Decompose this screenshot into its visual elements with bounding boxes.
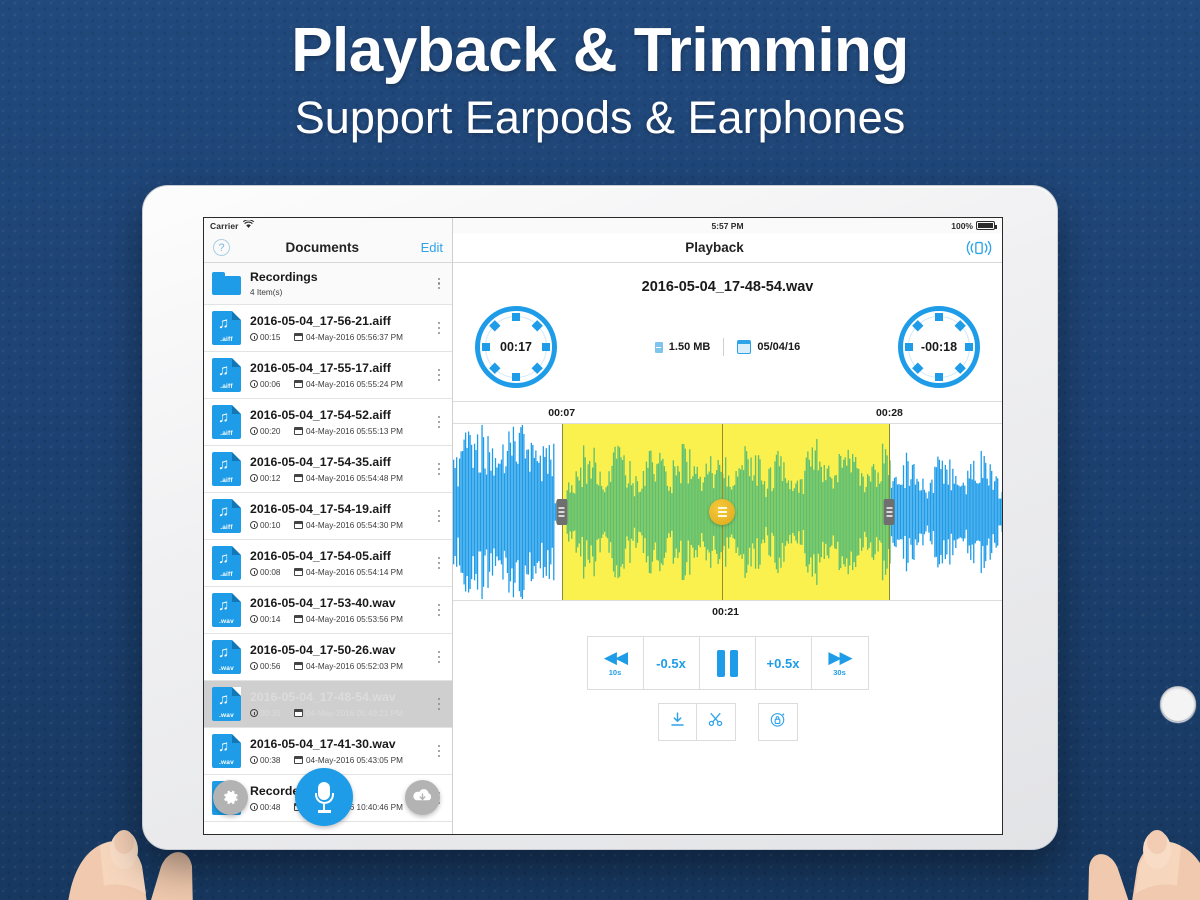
file-date: 04-May-2016 05:52:03 PM	[294, 662, 403, 671]
file-more-icon[interactable]	[432, 369, 446, 380]
file-duration: 00:06	[250, 380, 290, 389]
file-more-icon[interactable]	[432, 698, 446, 709]
sidebar-header: ? Documents Edit	[204, 233, 452, 263]
file-list[interactable]: Recordings4 Item(s)♫.aiff2016-05-04_17-5…	[204, 263, 452, 834]
right-hand	[1045, 790, 1200, 900]
dial-tick	[512, 313, 520, 321]
file-duration: 00:20	[250, 427, 290, 436]
file-date: 04-May-2016 05:54:48 PM	[294, 474, 403, 483]
dial-tick	[482, 343, 490, 351]
save-download-button[interactable]	[659, 704, 697, 740]
calendar-icon	[737, 341, 751, 354]
calendar-icon	[294, 568, 303, 576]
dial-tick	[935, 373, 943, 381]
folder-name: Recordings	[250, 270, 432, 285]
file-date-value: 05/04/16	[757, 341, 800, 353]
dial-tick	[935, 313, 943, 321]
trim-cut-button[interactable]	[697, 704, 735, 740]
selection-duration-label: 00:21	[712, 606, 739, 618]
file-duration: 00:48	[250, 803, 290, 812]
calendar-icon	[294, 521, 303, 529]
speed-up-button[interactable]: +0.5x	[756, 637, 812, 689]
file-duration: 00:12	[250, 474, 290, 483]
calendar-icon	[294, 380, 303, 388]
pause-button[interactable]	[700, 637, 756, 689]
track-title: 2016-05-04_17-48-54.wav	[453, 263, 1002, 306]
file-duration: 00:15	[250, 333, 290, 342]
file-name: 2016-05-04_17-50-26.wav	[250, 643, 432, 658]
calendar-icon	[294, 756, 303, 764]
file-date: 04-May-2016 05:56:37 PM	[294, 333, 403, 342]
file-more-icon[interactable]	[432, 416, 446, 427]
file-duration: 00:56	[250, 662, 290, 671]
protect-lock-button[interactable]	[759, 704, 797, 740]
waveform-bottom-axis: 00:21	[453, 600, 1002, 622]
settings-button[interactable]	[213, 780, 248, 815]
file-date: 04-May-2016 05:43:05 PM	[294, 756, 403, 765]
trim-handle-left[interactable]	[556, 499, 567, 525]
action-buttons	[453, 690, 1002, 741]
clock-icon	[250, 427, 258, 435]
rewind-icon: ◀◀	[604, 649, 626, 666]
main-status-bar: 5:57 PM 100%	[453, 218, 1002, 233]
calendar-icon	[294, 662, 303, 670]
waveform-top-axis: 00:07 00:28	[453, 402, 1002, 424]
file-date: 04-May-2016 05:54:14 PM	[294, 568, 403, 577]
lock-shield-icon	[768, 710, 787, 734]
trim-end-label: 00:28	[876, 407, 903, 419]
clock-icon	[250, 662, 258, 670]
page-title: Documents	[224, 240, 421, 255]
file-duration: 00:08	[250, 568, 290, 577]
audio-file-icon: ♫.wav	[212, 640, 241, 674]
rewind-seconds-label: 10s	[609, 668, 622, 677]
file-duration: 00:14	[250, 615, 290, 624]
fast-forward-icon: ▶▶	[828, 649, 850, 666]
file-duration: 00:10	[250, 521, 290, 530]
audio-file-icon: ♫.aiff	[212, 311, 241, 345]
audio-file-icon: ♫.aiff	[212, 358, 241, 392]
app-screen: Carrier ? Documents Edit Recordings4 Ite…	[203, 217, 1003, 835]
time-dials: 00:17 1.50 MB 05/04/16 -00:18	[453, 306, 1002, 402]
edit-button[interactable]: Edit	[421, 240, 443, 255]
remaining-time-dial[interactable]: -00:18	[898, 306, 980, 388]
file-name: 2016-05-04_17-56-21.aiff	[250, 314, 432, 329]
audio-file-icon: ♫.aiff	[212, 452, 241, 486]
clock-icon	[250, 568, 258, 576]
file-more-icon[interactable]	[432, 557, 446, 568]
elapsed-time-dial[interactable]: 00:17	[475, 306, 557, 388]
cloud-download-button[interactable]	[405, 780, 440, 815]
carrier-label: Carrier	[210, 221, 239, 231]
folder-icon	[212, 272, 241, 295]
file-more-icon[interactable]	[432, 322, 446, 333]
speed-up-label: +0.5x	[767, 656, 800, 671]
clock-icon	[250, 615, 258, 623]
calendar-icon	[294, 709, 303, 717]
file-more-icon[interactable]	[432, 510, 446, 521]
scissors-icon	[707, 711, 724, 733]
documents-sidebar: Carrier ? Documents Edit Recordings4 Ite…	[204, 218, 453, 834]
file-duration: 00:35	[250, 709, 290, 718]
file-info: 1.50 MB 05/04/16	[655, 338, 800, 356]
file-row[interactable]: ♫.aiff2016-05-04_17-54-35.aiff00:1204-Ma…	[204, 446, 452, 493]
home-button[interactable]	[1160, 686, 1196, 722]
audio-file-icon: ♫.aiff	[212, 546, 241, 580]
file-row[interactable]: ♫.aiff2016-05-04_17-55-17.aiff00:0604-Ma…	[204, 352, 452, 399]
calendar-icon	[294, 615, 303, 623]
speed-down-button[interactable]: -0.5x	[644, 637, 700, 689]
elapsed-time-value: 00:17	[500, 340, 532, 354]
file-name: 2016-05-04_17-54-05.aiff	[250, 549, 432, 564]
audio-file-icon: ♫.wav	[212, 687, 241, 721]
file-duration: 00:38	[250, 756, 290, 765]
pause-icon	[717, 650, 738, 677]
forward-30s-button[interactable]: ▶▶ 30s	[812, 637, 868, 689]
file-more-icon[interactable]	[432, 604, 446, 615]
trim-start-label: 00:07	[548, 407, 575, 419]
battery-indicator: 100%	[951, 221, 995, 231]
file-name: 2016-05-04_17-54-19.aiff	[250, 502, 432, 517]
file-name: 2016-05-04_17-54-35.aiff	[250, 455, 432, 470]
battery-icon	[976, 221, 995, 230]
sidebar-status-bar: Carrier	[204, 218, 452, 233]
audio-file-icon: ♫.wav	[212, 593, 241, 627]
clock-icon	[250, 803, 258, 811]
waveform-display[interactable]	[453, 424, 1002, 600]
promo-headline: Playback & Trimming	[0, 18, 1200, 83]
audio-file-icon: ♫.aiff	[212, 405, 241, 439]
cloud-download-icon	[412, 786, 433, 809]
file-size-item: 1.50 MB	[655, 341, 711, 353]
forward-seconds-label: 30s	[833, 668, 846, 677]
calendar-icon	[294, 474, 303, 482]
file-name: 2016-05-04_17-41-30.wav	[250, 737, 432, 752]
calendar-icon	[294, 427, 303, 435]
trim-handle-right[interactable]	[884, 499, 895, 525]
dial-tick	[542, 343, 550, 351]
file-row[interactable]: ♫.aiff2016-05-04_17-54-05.aiff00:0804-Ma…	[204, 540, 452, 587]
clock-icon	[250, 521, 258, 529]
file-date: 04-May-2016 05:49:21 PM	[294, 709, 403, 718]
folder-row[interactable]: Recordings4 Item(s)	[204, 263, 452, 305]
download-icon	[669, 711, 686, 733]
file-name: 2016-05-04_17-54-52.aiff	[250, 408, 432, 423]
playhead-knob[interactable]	[709, 499, 735, 525]
file-more-icon[interactable]	[432, 745, 446, 756]
transport-controls: ◀◀ 10s -0.5x +0.5x ▶▶ 30s	[453, 622, 1002, 690]
folder-count: 4 Item(s)	[250, 288, 282, 297]
file-row[interactable]: ♫.aiff2016-05-04_17-54-52.aiff00:2004-Ma…	[204, 399, 452, 446]
record-button[interactable]	[295, 768, 353, 826]
dial-tick	[905, 343, 913, 351]
file-date: 04-May-2016 05:55:13 PM	[294, 427, 403, 436]
calendar-icon	[294, 333, 303, 341]
file-date-item: 05/04/16	[737, 341, 800, 354]
file-row[interactable]: ♫.wav2016-05-04_17-53-40.wav00:1404-May-…	[204, 587, 452, 634]
file-row[interactable]: ♫.wav2016-05-04_17-50-26.wav00:5604-May-…	[204, 634, 452, 681]
wifi-icon	[243, 220, 254, 231]
audio-file-icon: ♫.wav	[212, 734, 241, 768]
file-name: 2016-05-04_17-48-54.wav	[250, 690, 432, 705]
clock-icon	[250, 380, 258, 388]
remaining-time-value: -00:18	[921, 340, 957, 354]
clock-icon	[250, 756, 258, 764]
clock-icon	[250, 474, 258, 482]
drive-icon	[655, 342, 663, 353]
rewind-10s-button[interactable]: ◀◀ 10s	[588, 637, 644, 689]
file-more-icon[interactable]	[432, 651, 446, 662]
file-name: 2016-05-04_17-53-40.wav	[250, 596, 432, 611]
folder-more-icon[interactable]	[432, 278, 446, 289]
file-date: 04-May-2016 05:54:30 PM	[294, 521, 403, 530]
file-more-icon[interactable]	[432, 463, 446, 474]
waveform-section: 00:07 00:28 00:21	[453, 402, 1002, 622]
clock-icon	[250, 333, 258, 341]
dial-tick	[965, 343, 973, 351]
speed-down-label: -0.5x	[656, 656, 686, 671]
file-row[interactable]: ♫.aiff2016-05-04_17-56-21.aiff00:1504-Ma…	[204, 305, 452, 352]
info-divider	[723, 338, 724, 356]
file-row[interactable]: ♫.wav2016-05-04_17-48-54.wav00:3504-May-…	[204, 681, 452, 728]
promo-subheadline: Support Earpods & Earphones	[0, 93, 1200, 143]
file-name: 2016-05-04_17-55-17.aiff	[250, 361, 432, 376]
dial-tick	[512, 373, 520, 381]
airplay-icon[interactable]	[966, 239, 992, 257]
playback-header: Playback	[453, 233, 1002, 263]
playback-title: Playback	[463, 240, 966, 255]
gear-icon	[220, 787, 241, 808]
battery-percent: 100%	[951, 221, 973, 231]
playback-panel: 5:57 PM 100% Playback 2016-05-04_17-48-5…	[453, 218, 1002, 834]
file-row[interactable]: ♫.aiff2016-05-04_17-54-19.aiff00:1004-Ma…	[204, 493, 452, 540]
audio-file-icon: ♫.aiff	[212, 499, 241, 533]
microphone-icon	[315, 782, 334, 813]
clock-icon	[250, 709, 258, 717]
promo-text-block: Playback & Trimming Support Earpods & Ea…	[0, 18, 1200, 143]
file-date: 04-May-2016 05:55:24 PM	[294, 380, 403, 389]
status-time: 5:57 PM	[711, 221, 743, 231]
file-size-value: 1.50 MB	[669, 341, 711, 353]
file-date: 04-May-2016 05:53:56 PM	[294, 615, 403, 624]
